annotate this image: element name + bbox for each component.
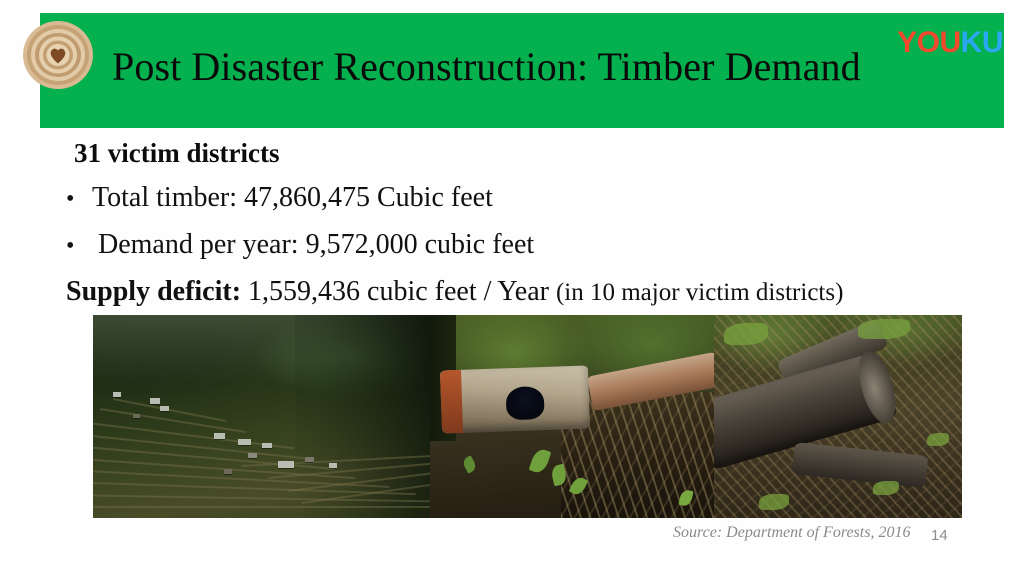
section-heading: 31 victim districts <box>74 138 279 169</box>
page-title: Post Disaster Reconstruction: Timber Dem… <box>112 46 972 88</box>
supply-deficit-value: 1,559,436 cubic feet / Year <box>241 276 556 307</box>
bullet-text: Total timber: 47,860,475 Cubic feet <box>92 182 493 214</box>
source-note: Source: Department of Forests, 2016 <box>673 524 910 542</box>
bullet-marker-icon: • <box>66 234 92 258</box>
tree-ring-heart-icon <box>22 19 94 91</box>
list-item: • Demand per year: 9,572,000 cubic feet <box>66 229 534 261</box>
bullet-text: Demand per year: 9,572,000 cubic feet <box>92 229 534 261</box>
list-item: • Total timber: 47,860,475 Cubic feet <box>66 182 493 214</box>
photo-strip <box>93 315 962 518</box>
log-hollow <box>506 386 546 420</box>
fallen-dark-logs-photo <box>714 315 962 518</box>
supply-deficit-line: Supply deficit: 1,559,436 cubic feet / Y… <box>66 276 843 308</box>
slide-canvas: Post Disaster Reconstruction: Timber Dem… <box>0 0 1021 575</box>
page-number: 14 <box>931 527 948 544</box>
youku-watermark: YOUKU <box>897 28 1003 58</box>
log-bark <box>440 370 463 434</box>
terrace-lines <box>93 315 430 518</box>
timber-log-main <box>440 365 590 433</box>
bullet-marker-icon: • <box>66 187 92 211</box>
youku-part-two: KU <box>961 26 1003 59</box>
terraced-hillside-village-photo <box>93 315 430 518</box>
cut-timber-logs-photo <box>430 315 714 518</box>
youku-part-one: YOU <box>897 26 961 59</box>
supply-deficit-note: (in 10 major victim districts) <box>556 279 843 306</box>
supply-deficit-label: Supply deficit: <box>66 276 241 307</box>
